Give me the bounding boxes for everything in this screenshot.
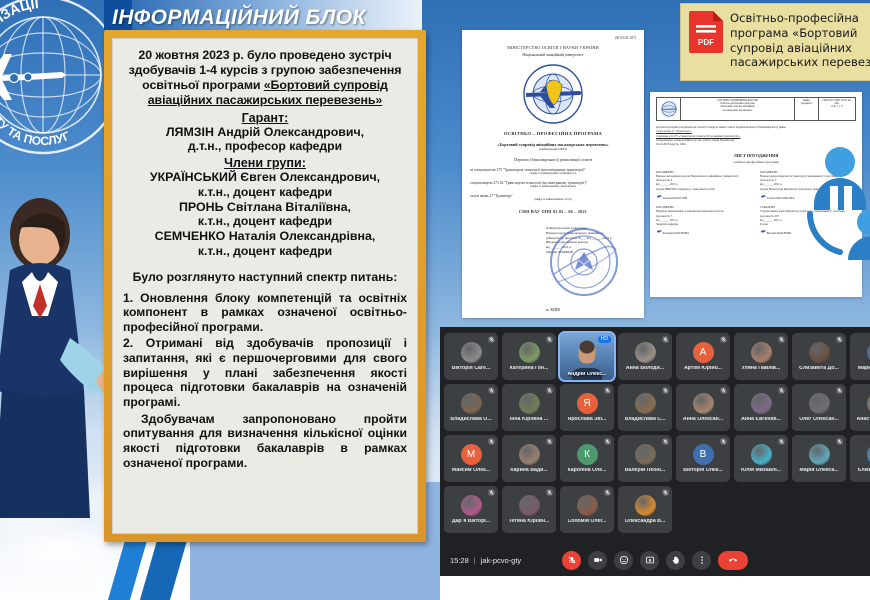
participant-mic-muted-icon — [778, 438, 785, 445]
participant-mic-muted-icon — [836, 336, 843, 343]
participant-mic-muted-icon — [836, 387, 843, 394]
participant-name: Максим Олек... — [452, 468, 490, 473]
participant-name: Вікторія Олек... — [683, 468, 723, 473]
participant-name: Вікторія Саге... — [452, 366, 491, 371]
leave-call-button[interactable] — [718, 551, 748, 570]
participant-photo-avatar — [809, 444, 830, 465]
meeting-info: 15:28 | jak-pcvo-gty — [450, 556, 521, 565]
participant-tile[interactable]: Інна Юріївна ... — [502, 384, 556, 431]
intro-line-2: здобувачів 1-4 курсів з групою забезпече… — [129, 63, 402, 77]
participant-photo-avatar — [461, 393, 482, 414]
doc-registration-number: СМЯ НАУ ОПП 03.02 – 60 – 2021 — [470, 209, 636, 214]
member-degree: к.т.н., доцент кафедри — [123, 244, 407, 259]
participant-name: Артем Юрійо... — [684, 366, 722, 371]
agenda-item: 1. Оновлення блоку компетенцій та освітн… — [123, 291, 407, 335]
spectrum-label: Було розглянуто наступний спектр питань: — [123, 270, 407, 284]
doc-level: Першого (бакалаврського) рівня вищої осв… — [470, 157, 636, 162]
present-screen-button[interactable] — [640, 551, 659, 570]
participant-name: Анастасія Ана... — [857, 417, 870, 422]
participant-mic-muted-icon — [604, 387, 611, 394]
participant-name: Анна Володи... — [626, 366, 664, 371]
participant-tile[interactable]: Олександра В... — [618, 486, 672, 533]
participant-photo-avatar — [867, 444, 870, 465]
participant-grid: Вікторія Саге...Катерина Гон...HDАндрій … — [444, 333, 870, 533]
participant-name: Валерій Леоні... — [625, 468, 666, 473]
participant-name: Юлія Михайлі... — [741, 468, 781, 473]
intro-line-1: 20 жовтня 2023 р. було проведено зустріч — [138, 48, 391, 62]
guarantor-degree: д.т.н., професор кафедри — [123, 139, 407, 154]
signature-mark: ✒ — [759, 227, 766, 238]
members-label: Члени групи: — [123, 156, 407, 170]
participant-tile[interactable]: ВВікторія Олек... — [676, 435, 730, 482]
bottom-white-strip — [440, 576, 870, 600]
agenda-item: Здобувачам запропоновано пройти опитуван… — [123, 412, 407, 471]
participant-photo-avatar — [693, 393, 714, 414]
participant-tile[interactable]: Катерина Гон... — [502, 333, 556, 380]
participant-name: Єлизавета До... — [799, 366, 839, 371]
meeting-controls — [562, 551, 748, 570]
participant-mic-muted-icon — [662, 387, 669, 394]
participant-name: Тетяна Юріївн... — [509, 519, 550, 524]
participant-tile[interactable]: Владислава С... — [618, 384, 672, 431]
participant-mic-muted-icon — [488, 387, 495, 394]
participant-photo-avatar — [519, 444, 540, 465]
participant-tile[interactable]: Соломія Олег... — [560, 486, 614, 533]
participant-name: Ярослава Зві... — [568, 417, 607, 422]
people-group-icon — [800, 140, 870, 260]
participant-name: Кароліна Оле... — [568, 468, 607, 473]
doc-table-emblem-icon — [657, 98, 681, 120]
participant-name: Владислава О... — [450, 417, 491, 422]
participant-name: Андрій Олекс... — [560, 372, 614, 377]
approval-cell: ПОГОДЖЕНО Науково-методичною радою Націо… — [656, 171, 752, 202]
participant-photo-avatar — [751, 393, 772, 414]
participant-photo-avatar — [809, 393, 830, 414]
doc-branch-sub: (шифр та найменування галузі) — [470, 198, 636, 201]
participant-photo-avatar — [519, 393, 540, 414]
participant-tile[interactable]: Вікторія Саге... — [444, 333, 498, 380]
participant-mic-muted-icon — [662, 489, 669, 496]
doc-table-title-line-4: пасажирських перевезень» — [683, 109, 792, 112]
member-degree: к.т.н., доцент кафедри — [123, 185, 407, 200]
participant-initial-avatar: К — [577, 444, 598, 465]
participant-tile[interactable]: Уляна Павлів... — [734, 333, 788, 380]
participant-name: Єлизавета Ру... — [858, 468, 870, 473]
doc-spec-sub: (шифр та найменування спеціалізації) — [470, 185, 636, 188]
raise-hand-button[interactable] — [666, 551, 685, 570]
participant-tile[interactable]: Олег Олексан... — [792, 384, 846, 431]
participant-name: Дар`я Вікторі... — [452, 519, 490, 524]
hd-badge: HD — [598, 336, 611, 343]
document-cover-page[interactable]: (Ф 03.02-107) МІНІСТЕРСТВО ОСВІТИ І НАУК… — [462, 30, 644, 318]
member-degree: к.т.н., доцент кафедри — [123, 214, 407, 229]
participant-tile[interactable]: Дар`я Вікторі... — [444, 486, 498, 533]
doc-field-sub: (шифр та найменування спеціальності) — [470, 172, 636, 175]
participant-tile[interactable]: HDАндрій Олекс... — [560, 333, 614, 380]
participant-tile[interactable]: Єлизавета До... — [792, 333, 846, 380]
participant-mic-muted-icon — [662, 438, 669, 445]
participant-name: Соломія Олег... — [568, 519, 607, 524]
presentation-slide: ОРГАНІЗАЦІЇ ПОБУТУ ТА ПОСЛУГ ІНФОРМАЦІЙН… — [0, 0, 870, 600]
signature-mark: ✒ — [759, 191, 766, 202]
participant-mic-muted-icon — [720, 336, 727, 343]
video-conference-window[interactable]: Вікторія Саге...Катерина Гон...HDАндрій … — [440, 327, 870, 576]
participant-mic-muted-icon — [604, 438, 611, 445]
microphone-off-button[interactable] — [562, 551, 581, 570]
pdf-program-banner[interactable]: PDF Освітньо-професійна програма «Бортов… — [680, 3, 870, 81]
participant-tile[interactable]: Анна Олексан... — [676, 384, 730, 431]
participant-photo-avatar — [809, 342, 830, 363]
emoji-reactions-button[interactable] — [614, 551, 633, 570]
member-name: ПРОНЬ Світлана Віталіївна, — [123, 200, 407, 215]
participant-mic-muted-icon — [488, 336, 495, 343]
doc-table-code-label: Шифр документа — [795, 98, 819, 120]
participant-tile[interactable]: ММаксим Олек... — [444, 435, 498, 482]
approval-signer: Анатолій ПОЛУХІН — [663, 197, 687, 200]
approval-cell: ПОГОДЖЕНО Відділом ліцензування та акред… — [656, 206, 752, 237]
participant-hair — [580, 341, 595, 354]
participant-mic-muted-icon — [546, 489, 553, 496]
agenda-item: 2. Отримані від здобувачів пропозиції і … — [123, 336, 407, 409]
member-name: СЕМЧЕНКО Наталія Олександрівна, — [123, 229, 407, 244]
camera-button[interactable] — [588, 551, 607, 570]
participant-name: Анна Олексан... — [683, 417, 723, 422]
participant-tile[interactable]: Анна Євгеніїв... — [734, 384, 788, 431]
participant-photo-avatar — [577, 495, 598, 516]
participant-tile[interactable]: Єлизавета Ру... — [850, 435, 870, 482]
participant-name: Анна Євгеніїв... — [741, 417, 781, 422]
participant-mic-muted-icon — [836, 438, 843, 445]
participant-name: Марина Воло... — [858, 366, 870, 371]
intro-paragraph: 20 жовтня 2023 р. було проведено зустріч… — [123, 48, 407, 109]
approval-signer: Тетяна МОСТЕНСЬКА — [767, 197, 795, 200]
doc-city: м. КИЇВ — [462, 307, 644, 312]
participant-photo-avatar — [635, 444, 656, 465]
pdf-icon-label: PDF — [698, 38, 714, 47]
participant-mic-muted-icon — [662, 336, 669, 343]
doc-table-title: СИСТЕМА УПРАВЛІННЯ ЯКІСТЮ Освітньо-профе… — [681, 98, 795, 120]
participant-name: Олександра В... — [625, 519, 665, 524]
participant-tile[interactable]: ААртем Юрійо... — [676, 333, 730, 380]
participant-mic-muted-icon — [488, 438, 495, 445]
participant-photo-avatar — [751, 342, 772, 363]
doc-table-page: стор. 1 з 17 — [821, 105, 853, 108]
meeting-separator: | — [474, 556, 476, 565]
participant-initial-avatar: В — [693, 444, 714, 465]
participant-mic-muted-icon — [546, 387, 553, 394]
doc-form-code: (Ф 03.02-107) — [470, 36, 636, 40]
participant-tile[interactable]: ЯЯрослава Зві... — [560, 384, 614, 431]
participant-photo-avatar — [635, 495, 656, 516]
participant-tile[interactable]: Юлія Михайлі... — [734, 435, 788, 482]
participant-initial-avatar: М — [461, 444, 482, 465]
participant-mic-muted-icon — [604, 489, 611, 496]
participant-tile[interactable]: Марина Воло... — [850, 333, 870, 380]
participant-photo-avatar — [867, 393, 870, 414]
participant-name: Інна Юріївна ... — [510, 417, 548, 422]
participant-mic-muted-icon — [778, 387, 785, 394]
intro-line-3: освітньої програми — [142, 78, 260, 92]
doc-heading: ОСВІТНЬО – ПРОФЕСІЙНА ПРОГРАМА — [470, 131, 636, 136]
participant-mic-muted-icon — [720, 387, 727, 394]
pdf-banner-text: Освітньо-професійна програма «Бортовий с… — [730, 11, 870, 70]
doc-ministry: МІНІСТЕРСТВО ОСВІТИ І НАУКИ УКРАЇНИ — [470, 45, 636, 50]
participant-mic-muted-icon — [546, 336, 553, 343]
participant-name: Уляна Павлів... — [742, 366, 781, 371]
participant-photo-avatar — [867, 342, 870, 363]
participant-mic-muted-icon — [546, 438, 553, 445]
participant-photo-avatar — [461, 495, 482, 516]
participant-photo-avatar — [635, 393, 656, 414]
member-name: УКРАЇНСЬКИЙ Євген Олександрович, — [123, 170, 407, 185]
participant-photo-avatar — [635, 342, 656, 363]
participant-tile[interactable]: Анастасія Ана... — [850, 384, 870, 431]
doc-university: Національний авіаційний університет — [470, 53, 636, 57]
pdf-file-icon: PDF — [689, 11, 723, 53]
doc-table-code-value: СМЯ НАУ ОПП 03.02–60–2021 стор. 1 з 17 — [819, 98, 855, 120]
participant-mic-muted-icon — [720, 438, 727, 445]
participant-tile[interactable]: Владислава О... — [444, 384, 498, 431]
university-emblem-icon — [522, 63, 584, 125]
participant-name: Карина Вади... — [510, 468, 547, 473]
meeting-toolbar: 15:28 | jak-pcvo-gty — [440, 544, 870, 576]
participant-name: Олег Олексан... — [799, 417, 839, 422]
meeting-time: 15:28 — [450, 556, 469, 565]
info-card: 20 жовтня 2023 р. було проведено зустріч… — [104, 30, 426, 542]
participant-mic-muted-icon — [778, 336, 785, 343]
signature-mark: ✒ — [655, 191, 662, 202]
participant-tile[interactable]: Карина Вади... — [502, 435, 556, 482]
participant-photo-avatar — [519, 495, 540, 516]
info-card-body: 20 жовтня 2023 р. було проведено зустріч… — [112, 38, 418, 534]
participant-tile[interactable]: Валерій Леоні... — [618, 435, 672, 482]
participant-tile[interactable]: Анна Володи... — [618, 333, 672, 380]
pdf-text-line-2: програма «Бортовий — [730, 26, 870, 41]
participant-tile[interactable]: Марія Олекса... — [792, 435, 846, 482]
participant-name: Марія Олекса... — [799, 468, 838, 473]
participant-mic-muted-icon — [488, 489, 495, 496]
participant-name: Владислава С... — [625, 417, 666, 422]
page-title: ІНФОРМАЦІЙНИЙ БЛОК — [112, 6, 442, 30]
pdf-text-line-3: супровід авіаційних — [730, 41, 870, 56]
doc-program-name-sub: (найменування ОПП) — [470, 147, 636, 151]
participant-photo-avatar — [751, 444, 772, 465]
pdf-text-line-1: Освітньо-професійна — [730, 11, 870, 26]
more-options-button[interactable] — [692, 551, 711, 570]
guarantor-name: ЛЯМЗІН Андрій Олександрович, — [123, 125, 407, 140]
round-stamp-icon — [548, 226, 620, 298]
participant-photo-avatar — [519, 342, 540, 363]
meeting-code: jak-pcvo-gty — [481, 556, 521, 565]
participant-tile[interactable]: Тетяна Юріївн... — [502, 486, 556, 533]
participant-initial-avatar: А — [693, 342, 714, 363]
doc-header-table: СИСТЕМА УПРАВЛІННЯ ЯКІСТЮ Освітньо-профе… — [656, 97, 856, 121]
participant-initial-avatar: Я — [577, 393, 598, 414]
signature-mark: ✒ — [655, 227, 662, 238]
participant-photo-avatar — [461, 342, 482, 363]
participant-tile[interactable]: ККароліна Оле... — [560, 435, 614, 482]
approval-signer: Вікторія ЖДАНОВА — [767, 232, 792, 235]
participant-name: Катерина Гон... — [510, 366, 549, 371]
pdf-text-line-4: пасажирських перевезень» — [730, 55, 870, 70]
guarantor-label: Гарант: — [123, 111, 407, 125]
approval-signer: Катерина РАЗУМОВА — [663, 232, 689, 235]
